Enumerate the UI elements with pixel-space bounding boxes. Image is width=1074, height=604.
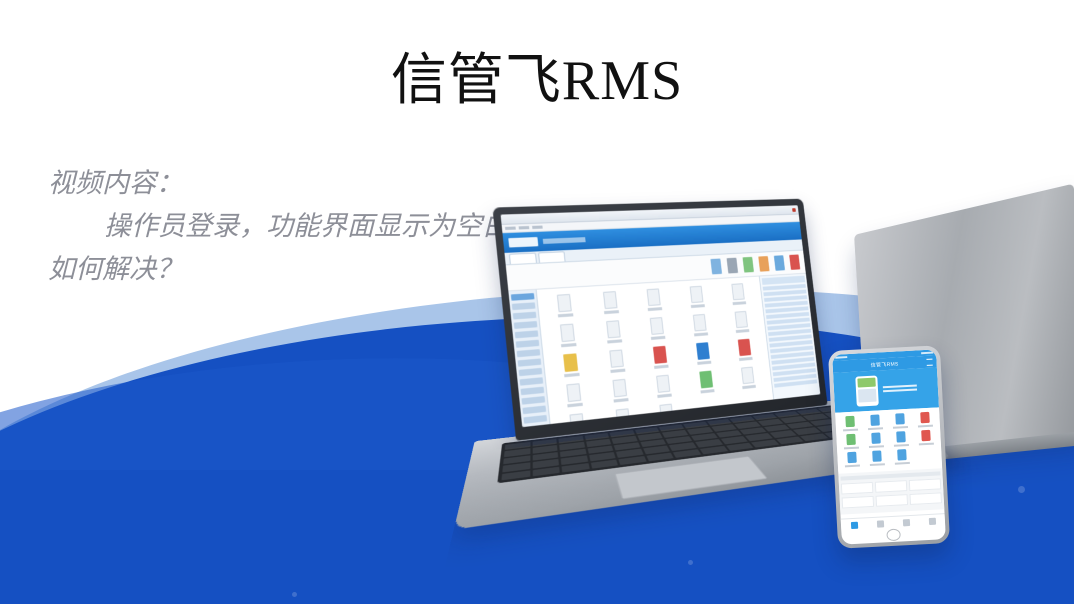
laptop-screen (501, 205, 821, 427)
phone-app-icon (864, 432, 888, 448)
menu-item (505, 227, 516, 230)
phone-app-icon (839, 433, 863, 449)
hamburger-menu-icon (926, 358, 932, 365)
app-sidebar (508, 290, 551, 427)
devices-illustration: 信管飞RMS (455, 190, 1074, 520)
phone-hero-banner (833, 367, 939, 412)
app-slogan (543, 237, 586, 244)
phone-app-icon (890, 449, 914, 465)
app-icon-grid (537, 276, 774, 427)
keyboard-key (776, 436, 804, 444)
carrier-icon (835, 356, 847, 359)
toolbar-icon (710, 259, 722, 275)
toolbar-icon (743, 257, 754, 273)
app-body (508, 274, 820, 427)
sidebar-item (523, 415, 547, 424)
phone-app-icon (914, 429, 938, 445)
sidebar-item (518, 358, 542, 366)
menu-item (519, 226, 530, 229)
toolbar-icon (789, 254, 800, 269)
laptop-device (492, 199, 839, 557)
sidebar-item (520, 387, 544, 396)
toolbar-icon (727, 258, 739, 274)
phone-app-grid (835, 407, 942, 471)
sidebar-item (512, 302, 536, 310)
app-logo-icon (508, 237, 538, 247)
sidebar-item (515, 330, 539, 338)
laptop-lid (492, 199, 827, 441)
phone-app-icon (838, 415, 862, 431)
toolbar-icon (774, 255, 785, 270)
phone-app-icon (913, 411, 937, 427)
app-icon (633, 288, 676, 316)
sidebar-item (516, 340, 540, 348)
keyboard-key (532, 466, 560, 476)
keyboard-key (590, 459, 618, 468)
keyboard-key (700, 446, 728, 455)
app-icon (545, 322, 591, 352)
keyboard-key (646, 452, 674, 461)
battery-icon (921, 352, 933, 355)
tab-item (538, 251, 566, 262)
app-icon (724, 338, 765, 366)
sidebar-item (521, 396, 545, 405)
phone-illustration-icon (855, 376, 879, 407)
app-icon (676, 285, 718, 313)
page-title: 信管飞RMS (0, 50, 1074, 112)
app-icon (548, 352, 594, 383)
app-icon (686, 369, 728, 399)
app-icon (636, 316, 679, 345)
app-icon (594, 348, 639, 378)
tab-item (509, 253, 537, 265)
phone-app-icon (889, 431, 913, 447)
app-icon (728, 365, 769, 394)
keyboard-key (562, 463, 590, 473)
sidebar-item (520, 377, 544, 385)
phone-banner-text (882, 384, 916, 394)
keyboard-key (800, 433, 828, 441)
phone-app-icon (863, 414, 887, 430)
sidebar-item (514, 321, 538, 329)
phone-app-icon (865, 450, 889, 466)
app-icon (541, 293, 587, 323)
keyboard-key (726, 442, 754, 450)
bottom-banner: 信管飞软件演示视频 一站式解决方案，应用逐步深入、投入小见效快！ (0, 508, 1074, 604)
decorative-bubble (1018, 486, 1025, 493)
sidebar-item (519, 368, 543, 376)
toolbar-icon (758, 256, 769, 272)
sidebar-item (513, 312, 537, 320)
keyboard-key (673, 449, 701, 458)
keyboard-key (751, 439, 779, 447)
keyboard-key (619, 456, 647, 465)
app-icon (683, 341, 725, 370)
app-icon (639, 345, 682, 375)
app-icon (718, 282, 759, 309)
menu-item (532, 226, 543, 229)
app-icon (679, 313, 721, 341)
close-icon (792, 208, 796, 212)
app-icon (721, 310, 762, 338)
app-icon (597, 377, 642, 408)
app-icon (588, 290, 633, 319)
phone-app-icon (888, 413, 912, 429)
phone-app-title: 信管飞RMS (871, 360, 899, 368)
app-icon (554, 412, 600, 428)
sidebar-item (517, 349, 541, 357)
app-icon (642, 373, 686, 403)
sidebar-item (522, 405, 546, 414)
slide-canvas: 信管飞RMS 视频内容： 操作员登录，功能界面显示为空白， 如何解决？ (0, 0, 1074, 604)
app-icon (551, 382, 597, 413)
phone-app-icon (840, 451, 864, 467)
phone-stats-row (842, 492, 942, 508)
app-icon (591, 319, 636, 349)
sidebar-item (511, 293, 535, 301)
